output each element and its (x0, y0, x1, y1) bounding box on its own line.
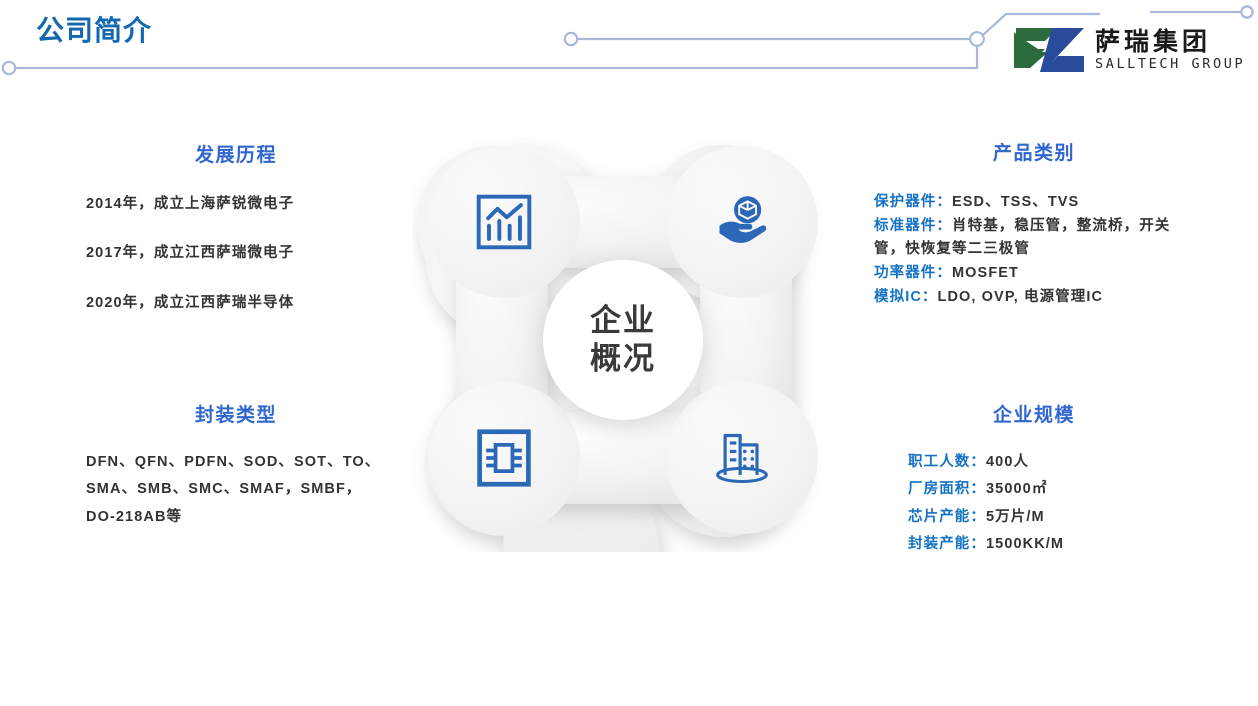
scale-row: 职工人数：400人 (908, 449, 1194, 476)
scale-label: 厂房面积： (908, 481, 986, 497)
lobe-bottom-right[interactable] (666, 382, 818, 534)
scale-label: 职工人数： (908, 454, 986, 470)
lobe-top-right[interactable] (666, 146, 818, 298)
history-row: 2017年，成立江西萨瑞微电子 (86, 242, 386, 264)
section-title-history: 发展历程 (86, 140, 386, 167)
product-label: 功率器件： (874, 265, 952, 281)
logo-name-en: SALLTECH GROUP (1095, 58, 1245, 72)
scale-value: 5万片/M (986, 509, 1045, 525)
scale-value: 35000㎡ (986, 481, 1047, 497)
product-row: 保护器件：ESD、TSS、TVS (874, 191, 1194, 215)
salltech-logo-icon (1012, 26, 1086, 74)
section-title-scale: 企业规模 (874, 400, 1194, 427)
scale-list: 职工人数：400人 厂房面积：35000㎡ 芯片产能：5万片/M 封装产能：15… (874, 449, 1194, 558)
section-history: 发展历程 2014年，成立上海萨锐微电子 2017年，成立江西萨瑞微电子 202… (86, 140, 386, 341)
hand-package-icon (712, 192, 772, 252)
product-value: ESD、TSS、TVS (952, 194, 1079, 210)
product-row: 功率器件：MOSFET (874, 262, 1194, 286)
product-row: 模拟IC：LDO, OVP, 电源管理IC (874, 286, 1194, 310)
buildings-icon (712, 428, 772, 488)
product-row: 标准器件：肖特基，稳压管，整流桥，开关管，快恢复等二三极管 (874, 215, 1194, 262)
hub-label: 企业 概况 (590, 302, 656, 378)
history-row: 2014年，成立上海萨锐微电子 (86, 193, 386, 215)
product-label: 标准器件： (874, 218, 952, 234)
product-label: 保护器件： (874, 194, 952, 210)
diagram-hub[interactable]: 企业 概况 (543, 260, 703, 420)
lobe-top-left[interactable] (428, 146, 580, 298)
scale-row: 芯片产能：5万片/M (908, 504, 1194, 531)
scale-label: 封装产能： (908, 536, 986, 552)
scale-value: 1500KK/M (986, 536, 1064, 552)
logo-wordmark: 萨瑞集团 SALLTECH GROUP (1095, 29, 1245, 72)
section-title-packaging: 封装类型 (86, 400, 386, 427)
section-packaging: 封装类型 DFN、QFN、PDFN、SOD、SOT、TO、SMA、SMB、SMC… (86, 400, 386, 531)
scale-label: 芯片产能： (908, 509, 986, 525)
scale-row: 厂房面积：35000㎡ (908, 476, 1194, 503)
scale-value: 400人 (986, 454, 1029, 470)
products-list: 保护器件：ESD、TSS、TVS 标准器件：肖特基，稳压管，整流桥，开关管，快恢… (874, 191, 1194, 309)
company-overview-diagram: 企业 概况 (412, 132, 842, 552)
scale-row: 封装产能：1500KK/M (908, 531, 1194, 558)
page-title: 公司简介 (36, 9, 152, 49)
company-logo: 萨瑞集团 SALLTECH GROUP (1012, 22, 1248, 78)
packaging-body: DFN、QFN、PDFN、SOD、SOT、TO、SMA、SMB、SMC、SMAF… (86, 449, 386, 531)
page-header: 公司简介 萨瑞集团 SALLTECH GROUP (0, 0, 1258, 100)
logo-name-cn: 萨瑞集团 (1095, 29, 1245, 54)
product-label: 模拟IC： (874, 289, 938, 305)
lobe-bottom-left[interactable] (428, 382, 580, 534)
product-value: MOSFET (952, 265, 1019, 281)
section-title-products: 产品类别 (874, 138, 1194, 165)
product-value: LDO, OVP, 电源管理IC (938, 289, 1104, 305)
section-scale: 企业规模 职工人数：400人 厂房面积：35000㎡ 芯片产能：5万片/M 封装… (874, 400, 1194, 558)
growth-chart-icon (474, 192, 534, 252)
chip-ic-icon (474, 428, 534, 488)
section-products: 产品类别 保护器件：ESD、TSS、TVS 标准器件：肖特基，稳压管，整流桥，开… (874, 138, 1194, 309)
history-row: 2020年，成立江西萨瑞半导体 (86, 292, 386, 314)
